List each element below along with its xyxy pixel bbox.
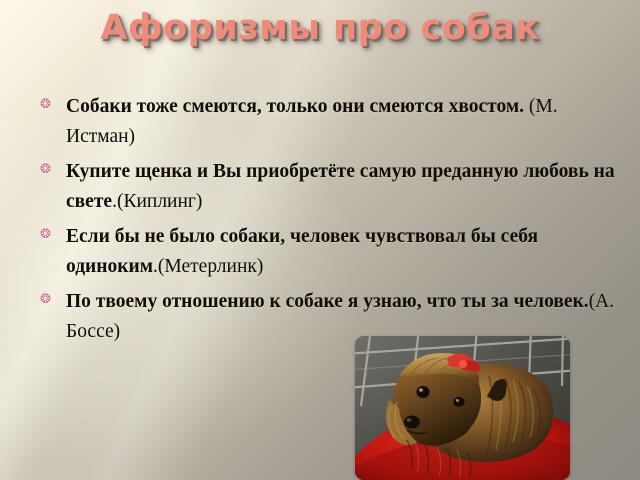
aphorism-source: .(Киплинг) [112,191,202,212]
spiral-bullet-icon: ❂ [40,228,66,241]
list-item: ❂ Собаки тоже смеются, только они смеютс… [40,92,630,152]
aphorism-source: .(Метерлинк) [153,256,263,277]
spiral-bullet-icon: ❂ [40,98,66,111]
aphorism-list: ❂ Собаки тоже смеются, только они смеютс… [40,92,630,352]
spiral-bullet-icon: ❂ [40,163,66,176]
aphorism-quote: Если бы не было собаки, человек чувствов… [66,226,538,277]
presentation-slide: Афоризмы про собак ❂ Собаки тоже смеются… [0,0,640,480]
aphorism-text: Если бы не было собаки, человек чувствов… [66,222,630,282]
dog-photo [355,336,570,480]
aphorism-quote: По твоему отношению к собаке я узнаю, чт… [66,291,589,312]
aphorism-text: Купите щенка и Вы приобретёте самую пред… [66,157,630,217]
dog-photo-illustration [355,336,570,480]
spiral-bullet-icon: ❂ [40,293,66,306]
aphorism-quote: Собаки тоже смеются, только они смеются … [66,96,524,117]
page-title: Афоризмы про собак [0,8,640,48]
aphorism-text: Собаки тоже смеются, только они смеются … [66,92,630,152]
list-item: ❂ Купите щенка и Вы приобретёте самую пр… [40,157,630,217]
list-item: ❂ Если бы не было собаки, человек чувств… [40,222,630,282]
